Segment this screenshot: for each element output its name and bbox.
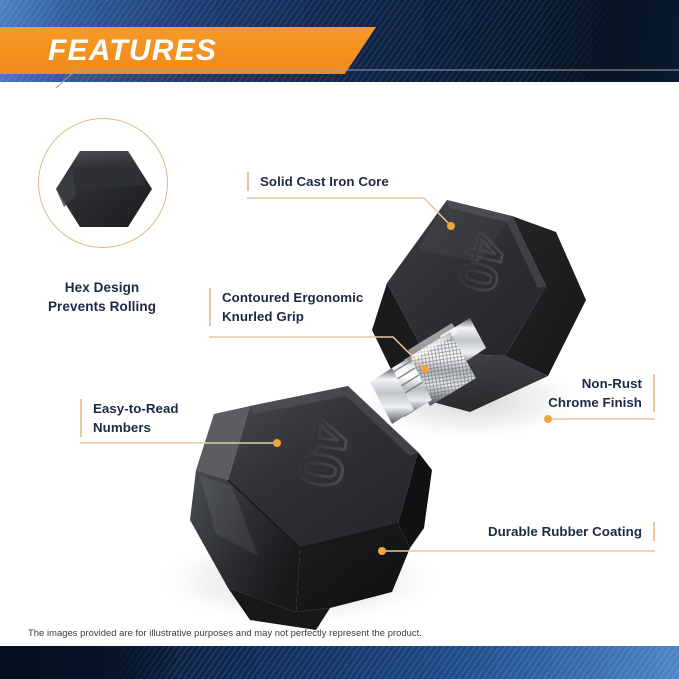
callout-easy-to-read-numbers: Easy-to-Read Numbers — [80, 399, 179, 437]
hex-design-icon — [50, 145, 158, 233]
embossed-weight-lower: 40 — [283, 414, 361, 492]
callout-solid-cast-iron-core: Solid Cast Iron Core — [247, 172, 389, 191]
product-photo: 40 — [0, 0, 679, 679]
infographic-canvas: FEATURES — [0, 0, 679, 679]
disclaimer-text: The images provided are for illustrative… — [28, 627, 422, 638]
hex-inset-caption: Hex Design Prevents Rolling — [38, 278, 166, 316]
callout-contoured-ergonomic-knurled-grip: Contoured Ergonomic Knurled Grip — [209, 288, 363, 326]
callout-non-rust-chrome-finish: Non-Rust Chrome Finish — [548, 374, 655, 412]
hex-caption-line2: Prevents Rolling — [48, 299, 156, 314]
callout-durable-rubber-coating: Durable Rubber Coating — [488, 522, 655, 541]
footer-bar — [0, 646, 679, 679]
hex-caption-line1: Hex Design — [65, 280, 140, 295]
